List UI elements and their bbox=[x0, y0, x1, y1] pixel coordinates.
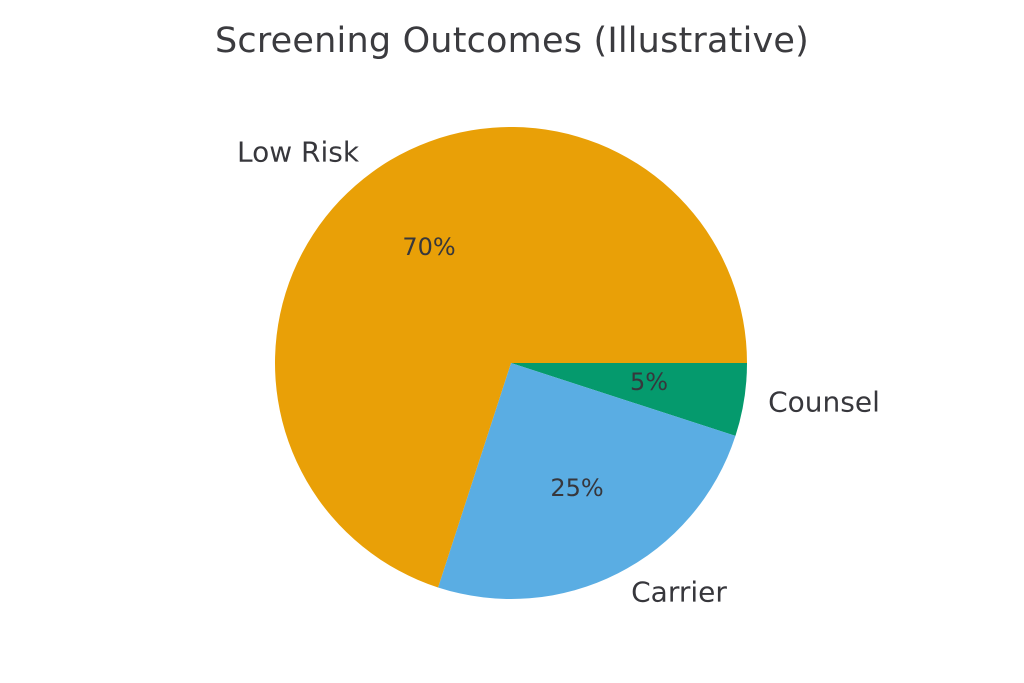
slice-value-label-carrier: 25% bbox=[550, 474, 603, 502]
slice-name-label-carrier: Carrier bbox=[631, 576, 727, 609]
pie-chart-canvas bbox=[0, 0, 1024, 683]
slice-name-label-counsel: Counsel bbox=[768, 386, 880, 419]
pie-chart-figure: Screening Outcomes (Illustrative) 5%Coun… bbox=[0, 0, 1024, 683]
slice-value-label-counsel: 5% bbox=[630, 368, 668, 396]
slice-name-label-low-risk: Low Risk bbox=[237, 136, 359, 169]
slice-value-label-low-risk: 70% bbox=[402, 233, 455, 261]
pie-slices-group bbox=[275, 127, 747, 599]
